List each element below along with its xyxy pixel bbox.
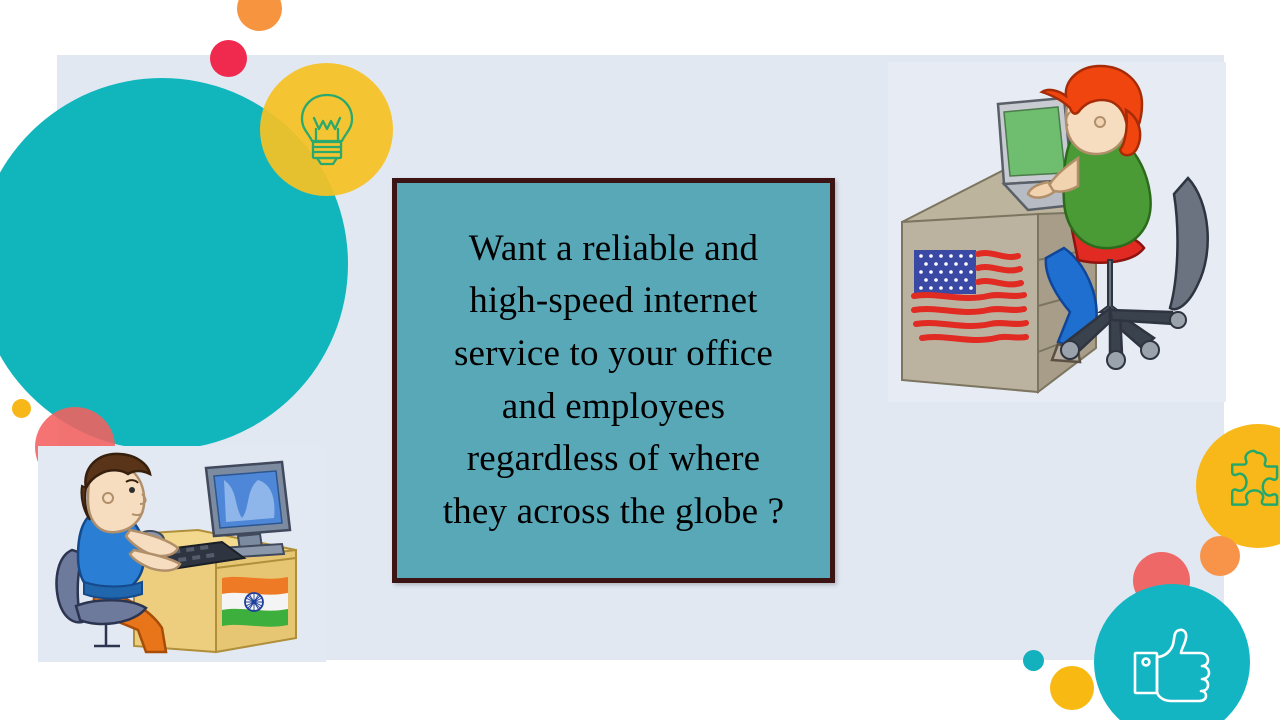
slide-canvas: Want a reliable and high-speed internet … (0, 0, 1280, 720)
headline-textbox: Want a reliable and high-speed internet … (392, 178, 835, 583)
headline-text: Want a reliable and high-speed internet … (429, 223, 799, 538)
man-at-desk-india-illustration (38, 446, 326, 662)
yellow-dot-bottom (1050, 666, 1094, 710)
headline-line-6: they across the globe ? (443, 491, 785, 532)
headline-line-1: Want a reliable and (469, 228, 758, 269)
orange-dot-bottom-right (1200, 536, 1240, 576)
teal-dot-bottom (1023, 650, 1044, 671)
crimson-dot-top (210, 40, 247, 77)
headline-line-5: regardless of where (467, 438, 761, 479)
headline-line-2: high-speed internet (469, 280, 757, 321)
lightbulb-icon (285, 88, 368, 171)
thumbs-up-icon (1129, 622, 1219, 707)
orange-dot-top (237, 0, 282, 31)
woman-at-desk-usa-illustration (888, 62, 1226, 402)
puzzle-piece-icon (1220, 444, 1280, 520)
headline-line-4: and employees (502, 386, 726, 427)
headline-line-3: service to your office (454, 333, 773, 374)
yellow-dot-left (12, 399, 31, 418)
